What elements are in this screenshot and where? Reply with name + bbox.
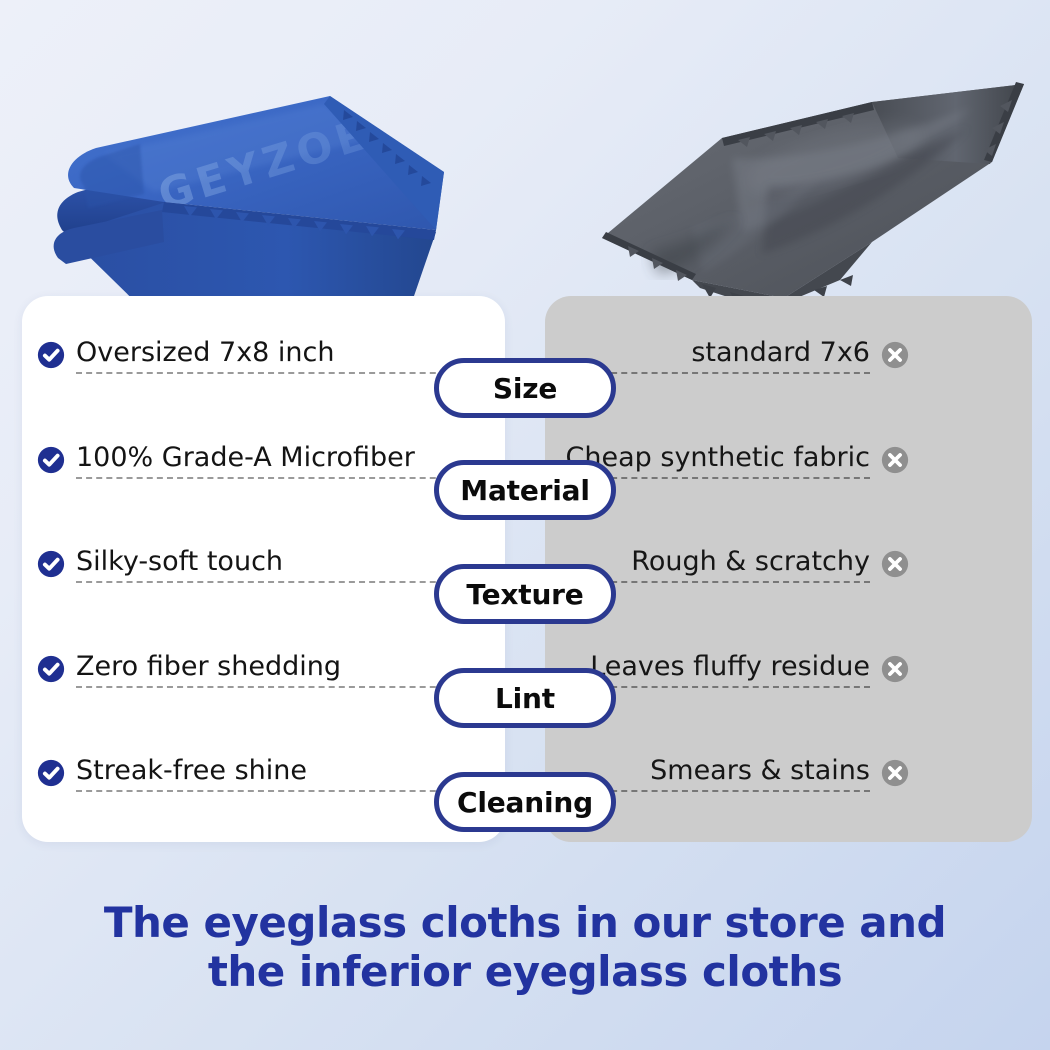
good-feature-text: 100% Grade-A Microfiber <box>76 443 456 473</box>
good-cell: Oversized 7x8 inch <box>36 328 456 374</box>
category-pill-texture[interactable]: Texture <box>434 564 616 624</box>
good-cell: Zero fiber shedding <box>36 642 456 688</box>
x-circle-icon <box>880 654 910 684</box>
caption-line-1: The eyeglass cloths in our store and <box>0 898 1050 947</box>
dashed-rule <box>76 790 456 792</box>
category-pill-size[interactable]: Size <box>434 358 616 418</box>
category-pill-cleaning[interactable]: Cleaning <box>434 772 616 832</box>
check-circle-icon <box>36 340 66 370</box>
good-cell: Silky-soft touch <box>36 537 456 583</box>
gray-inferior-cloth-image <box>572 66 1032 326</box>
check-circle-icon <box>36 758 66 788</box>
x-circle-icon <box>880 445 910 475</box>
dashed-rule <box>76 372 456 374</box>
good-feature-text: Silky-soft touch <box>76 547 456 577</box>
good-feature-text: Streak-free shine <box>76 756 456 786</box>
good-cell: 100% Grade-A Microfiber <box>36 433 456 479</box>
x-circle-icon <box>880 758 910 788</box>
check-circle-icon <box>36 445 66 475</box>
check-circle-icon <box>36 549 66 579</box>
category-label: Size <box>493 372 557 405</box>
category-label: Lint <box>495 682 555 715</box>
caption-line-2: the inferior eyeglass cloths <box>0 947 1050 996</box>
good-cell: Streak-free shine <box>36 746 456 792</box>
category-pill-material[interactable]: Material <box>434 460 616 520</box>
dashed-rule <box>76 581 456 583</box>
category-label: Material <box>460 474 589 507</box>
dashed-rule <box>76 477 456 479</box>
caption: The eyeglass cloths in our store and the… <box>0 898 1050 996</box>
good-feature-text: Oversized 7x8 inch <box>76 338 456 368</box>
category-label: Texture <box>466 578 583 611</box>
category-label: Cleaning <box>457 786 593 819</box>
comparison-infographic: GEYZOE <box>0 0 1050 1050</box>
good-feature-text: Zero fiber shedding <box>76 652 456 682</box>
x-circle-icon <box>880 340 910 370</box>
check-circle-icon <box>36 654 66 684</box>
x-circle-icon <box>880 549 910 579</box>
category-pill-lint[interactable]: Lint <box>434 668 616 728</box>
dashed-rule <box>76 686 456 688</box>
